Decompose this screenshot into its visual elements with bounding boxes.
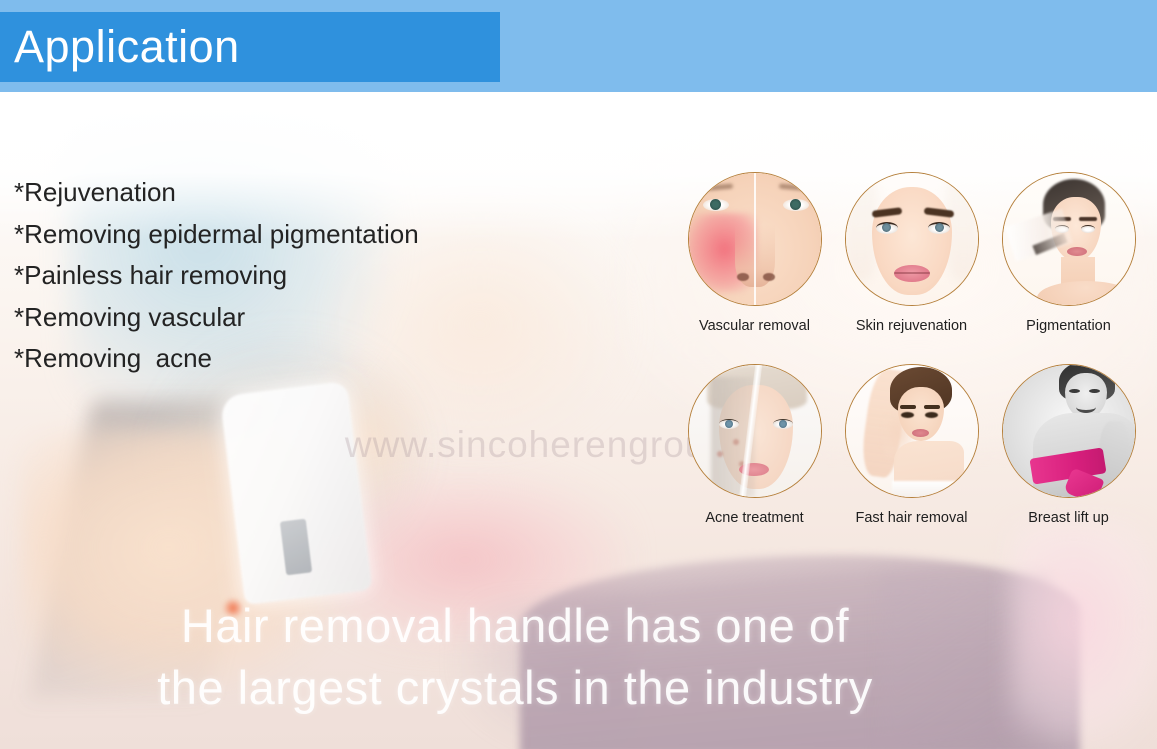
treatment-item-breast-lift-up: Breast lift up (990, 364, 1147, 556)
thumbnail-caption: Pigmentation (1026, 318, 1111, 334)
page-title: Application (0, 21, 240, 73)
treatment-thumbnail-grid: Vascular removal Skin rejuvenation (676, 172, 1148, 556)
list-item: *Removing epidermal pigmentation (14, 214, 534, 256)
treatment-item-fast-hair-removal: Fast hair removal (833, 364, 990, 556)
thumbnail-caption: Fast hair removal (855, 510, 967, 526)
vascular-removal-thumbnail (688, 172, 822, 306)
fast-hair-removal-thumbnail (845, 364, 979, 498)
thumbnail-caption: Vascular removal (699, 318, 810, 334)
header-strip: Application (0, 0, 1157, 92)
application-feature-list: *Rejuvenation *Removing epidermal pigmen… (14, 172, 534, 380)
skin-rejuvenation-thumbnail (845, 172, 979, 306)
treatment-item-pigmentation: Pigmentation (990, 172, 1147, 364)
breast-lift-up-thumbnail (1002, 364, 1136, 498)
promo-headline: Hair removal handle has one of the large… (0, 595, 1030, 719)
treatment-item-vascular-removal: Vascular removal (676, 172, 833, 364)
promo-headline-line-1: Hair removal handle has one of (0, 595, 1030, 657)
treatment-item-skin-rejuvenation: Skin rejuvenation (833, 172, 990, 364)
list-item: *Removing acne (14, 338, 534, 380)
acne-treatment-thumbnail (688, 364, 822, 498)
application-banner: Application *Rejuvenation *Removing epid… (0, 0, 1157, 749)
thumbnail-caption: Skin rejuvenation (856, 318, 967, 334)
promo-headline-line-2: the largest crystals in the industry (0, 657, 1030, 719)
thumbnail-caption: Breast lift up (1028, 510, 1109, 526)
list-item: *Rejuvenation (14, 172, 534, 214)
list-item: *Removing vascular (14, 297, 534, 339)
treatment-item-acne-treatment: Acne treatment (676, 364, 833, 556)
pigmentation-thumbnail (1002, 172, 1136, 306)
header-title-box: Application (0, 12, 500, 82)
list-item: *Painless hair removing (14, 255, 534, 297)
thumbnail-caption: Acne treatment (705, 510, 803, 526)
